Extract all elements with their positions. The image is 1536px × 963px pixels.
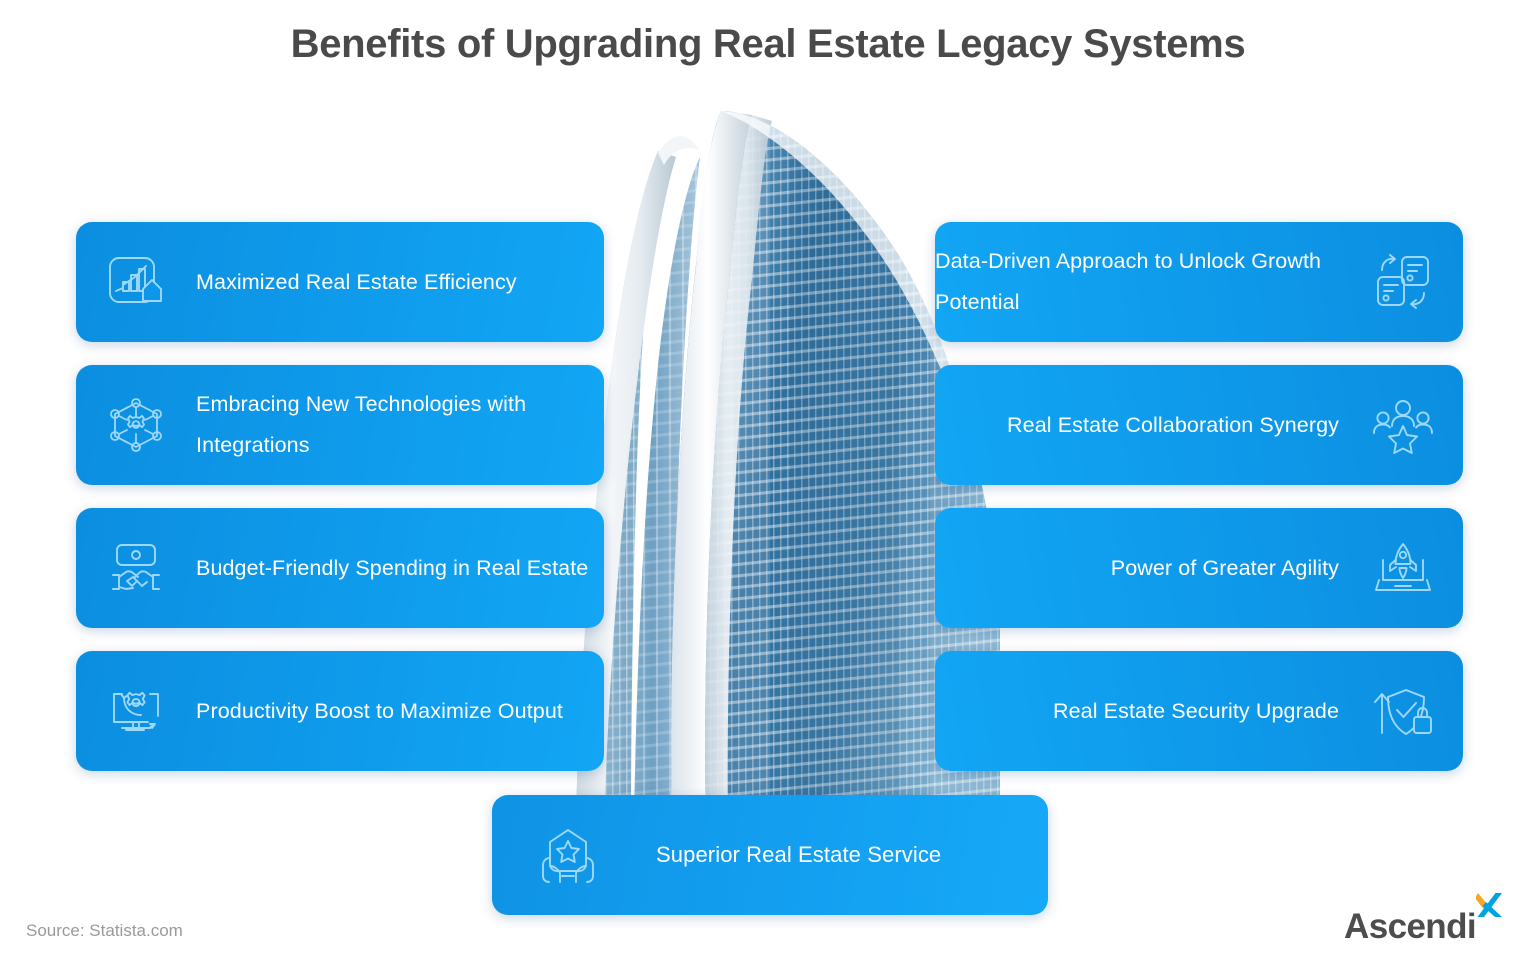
benefit-card-label: Superior Real Estate Service	[656, 834, 941, 876]
benefit-card-security-upgrade[interactable]: Real Estate Security Upgrade	[935, 651, 1463, 771]
page-title: Benefits of Upgrading Real Estate Legacy…	[0, 22, 1536, 67]
benefit-card-label: Data-Driven Approach to Unlock Growth Po…	[935, 241, 1339, 323]
hands-house-star-icon	[522, 816, 614, 894]
benefit-card-label: Maximized Real Estate Efficiency	[196, 262, 517, 303]
ascendix-logo: Ascendi	[1344, 908, 1502, 944]
source-attribution: Source: Statista.com	[26, 921, 183, 941]
team-star-icon	[1357, 386, 1449, 464]
benefit-card-label: Budget-Friendly Spending in Real Estate	[196, 548, 588, 589]
benefit-card-label: Productivity Boost to Maximize Output	[196, 691, 563, 732]
benefit-card-label: Real Estate Collaboration Synergy	[1007, 405, 1339, 446]
data-sync-servers-icon	[1357, 243, 1449, 321]
monitor-gear-arrows-icon	[90, 672, 182, 750]
benefit-card-label: Embracing New Technologies with Integrat…	[196, 384, 604, 466]
money-handshake-icon	[90, 529, 182, 607]
gear-network-icon	[90, 386, 182, 464]
benefit-card-embracing-technologies[interactable]: Embracing New Technologies with Integrat…	[76, 365, 604, 485]
benefit-card-budget-friendly-spending[interactable]: Budget-Friendly Spending in Real Estate	[76, 508, 604, 628]
logo-x-icon	[1476, 908, 1502, 938]
benefit-card-data-driven-approach[interactable]: Data-Driven Approach to Unlock Growth Po…	[935, 222, 1463, 342]
benefit-card-productivity-boost[interactable]: Productivity Boost to Maximize Output	[76, 651, 604, 771]
benefit-card-label: Real Estate Security Upgrade	[1053, 691, 1339, 732]
bar-chart-house-icon	[90, 243, 182, 321]
benefit-card-maximized-efficiency[interactable]: Maximized Real Estate Efficiency	[76, 222, 604, 342]
benefit-card-label: Power of Greater Agility	[1111, 548, 1339, 589]
benefit-card-collaboration-synergy[interactable]: Real Estate Collaboration Synergy	[935, 365, 1463, 485]
benefit-card-greater-agility[interactable]: Power of Greater Agility	[935, 508, 1463, 628]
benefit-card-superior-service[interactable]: Superior Real Estate Service	[492, 795, 1048, 915]
logo-wordmark: Ascendi	[1344, 909, 1476, 944]
shield-check-lock-arrow-icon	[1357, 672, 1449, 750]
rocket-laptop-icon	[1357, 529, 1449, 607]
